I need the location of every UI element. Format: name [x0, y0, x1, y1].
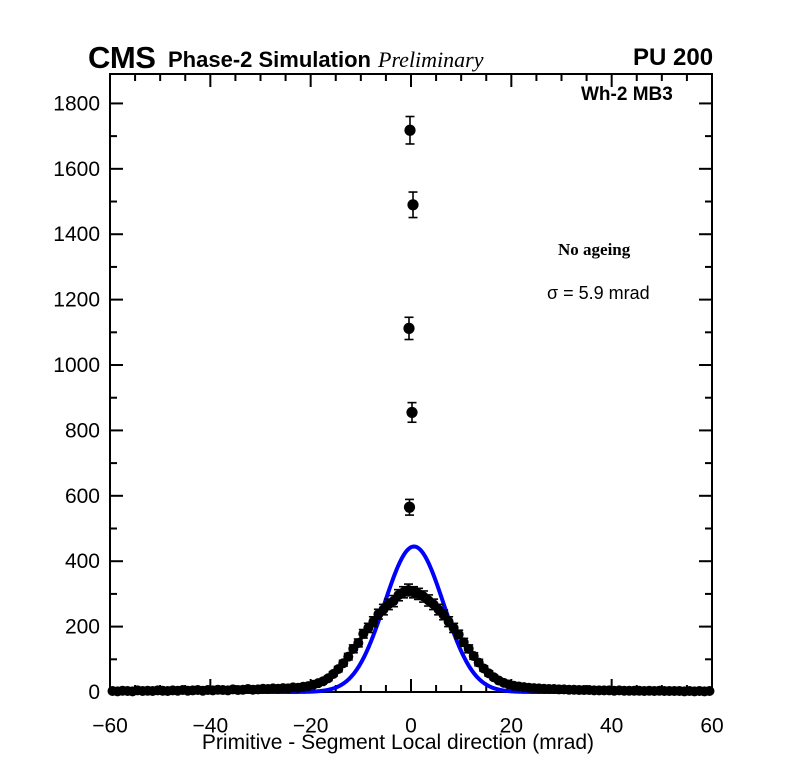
- gaussian-fit-curve: [110, 546, 712, 692]
- axis-tick-labels: −60−40−200204060020040060080010001200140…: [53, 92, 723, 737]
- svg-text:200: 200: [65, 616, 100, 639]
- plot-frame: [110, 74, 712, 692]
- region-label: Wh-2 MB3: [581, 84, 673, 106]
- svg-text:1000: 1000: [53, 354, 100, 377]
- svg-text:1800: 1800: [53, 92, 100, 115]
- svg-text:1400: 1400: [53, 223, 100, 246]
- svg-text:0: 0: [88, 681, 100, 704]
- plot-canvas: CMS Phase-2 Simulation Preliminary PU 20…: [0, 0, 796, 772]
- svg-text:800: 800: [65, 419, 100, 442]
- ageing-label: No ageing: [558, 240, 630, 260]
- svg-text:400: 400: [65, 550, 100, 573]
- svg-text:600: 600: [65, 485, 100, 508]
- axis-ticks: [110, 74, 712, 692]
- chart-svg: −60−40−200204060020040060080010001200140…: [0, 0, 796, 772]
- svg-text:1200: 1200: [53, 289, 100, 312]
- svg-text:1600: 1600: [53, 158, 100, 181]
- sigma-label: σ = 5.9 mrad: [547, 283, 650, 304]
- x-axis-title: Primitive - Segment Local direction (mra…: [0, 731, 796, 755]
- outlier-data-points: [403, 117, 418, 516]
